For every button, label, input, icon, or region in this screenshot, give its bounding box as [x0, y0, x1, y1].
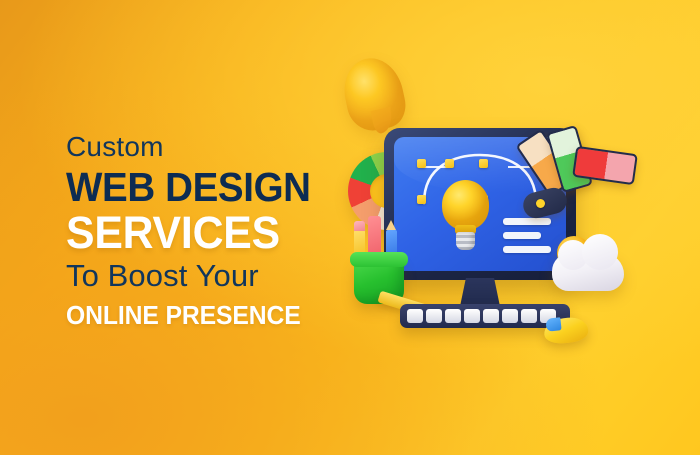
- headline-line-web-design: WEB DESIGN: [66, 166, 348, 209]
- screen-text-bar-3: [503, 246, 551, 253]
- yellow-blob-icon: [338, 53, 410, 135]
- keyboard-key: [521, 309, 537, 323]
- keyboard-key: [502, 309, 518, 323]
- keyboard-keys: [407, 309, 556, 323]
- path-node-left-handle: [417, 159, 426, 168]
- keyboard: [400, 304, 570, 328]
- screen-text-bar-2: [503, 232, 541, 239]
- path-node-bottom-left: [417, 195, 426, 204]
- headline-line-to-boost-your: To Boost Your: [66, 258, 366, 294]
- workspace-illustration: [340, 40, 670, 340]
- computer-mouse-button: [545, 317, 561, 331]
- keyboard-key: [483, 309, 499, 323]
- pencil-cup-rim: [350, 252, 408, 267]
- swatch-fan-dot: [536, 199, 545, 208]
- lightbulb-screw-base: [456, 232, 475, 250]
- keyboard-key: [407, 309, 423, 323]
- headline-line-online-presence: ONLINE PRESENCE: [66, 300, 351, 330]
- headline-line-services: SERVICES: [66, 210, 351, 256]
- screen-text-bar-1: [503, 218, 551, 225]
- headline-copy-block: Custom WEB DESIGN SERVICES To Boost Your…: [66, 132, 366, 330]
- web-design-services-banner: Custom WEB DESIGN SERVICES To Boost Your…: [0, 0, 700, 455]
- keyboard-key: [445, 309, 461, 323]
- keyboard-key: [426, 309, 442, 323]
- path-node-top-center: [445, 159, 454, 168]
- cloud-icon: [552, 253, 624, 291]
- path-node-right-handle: [479, 159, 488, 168]
- headline-line-custom: Custom: [66, 132, 366, 162]
- lightbulb-glass-icon: [442, 180, 489, 230]
- keyboard-key: [464, 309, 480, 323]
